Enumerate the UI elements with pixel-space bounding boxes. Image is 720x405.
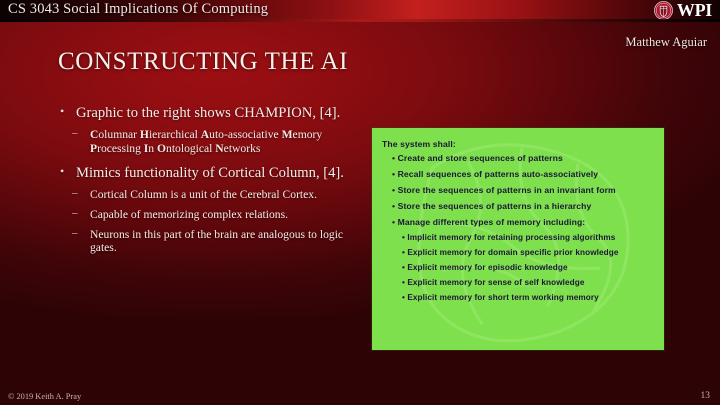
requirement-text: Explicit memory for sense of self knowle… xyxy=(407,278,584,287)
bullet-marker: – xyxy=(72,127,78,140)
wpi-logo: WPI xyxy=(654,1,712,20)
bullet-item: • Graphic to the right shows CHAMPION, [… xyxy=(58,105,358,122)
sub-bullet-item: – Capable of memorizing complex relation… xyxy=(58,208,358,222)
wpi-wordmark: WPI xyxy=(677,1,712,20)
bullet-item: • Mimics functionality of Cortical Colum… xyxy=(58,165,358,182)
requirement-text: Explicit memory for domain specific prio… xyxy=(407,248,618,257)
bullet-marker: • xyxy=(402,278,405,287)
requirement-subitem: • Explicit memory for sense of self know… xyxy=(382,278,656,287)
slide-header-bar: CS 3043 Social Implications Of Computing… xyxy=(0,0,720,22)
requirement-text: Explicit memory for episodic knowledge xyxy=(407,263,567,272)
course-title: CS 3043 Social Implications Of Computing xyxy=(8,1,268,18)
footer-copyright: © 2019 Keith A. Pray xyxy=(8,392,81,401)
requirement-item: • Create and store sequences of patterns xyxy=(382,153,656,163)
requirement-item: • Recall sequences of patterns auto-asso… xyxy=(382,169,656,179)
bullet-marker: – xyxy=(72,207,78,220)
bullet-marker: • xyxy=(402,248,405,257)
requirement-text: Create and store sequences of patterns xyxy=(398,153,563,163)
bullet-text: Capable of memorizing complex relations. xyxy=(90,208,288,221)
requirements-heading: The system shall: xyxy=(382,139,656,149)
bullet-marker: • xyxy=(60,105,64,119)
spacer xyxy=(58,155,358,165)
bullet-text: Mimics functionality of Cortical Column,… xyxy=(76,165,344,181)
requirement-item: • Store the sequences of patterns in an … xyxy=(382,185,656,195)
requirement-item: • Manage different types of memory inclu… xyxy=(382,217,656,227)
sub-bullet-item: – Neurons in this part of the brain are … xyxy=(58,228,358,255)
bullet-marker: • xyxy=(392,217,395,227)
bullet-marker: • xyxy=(402,233,405,242)
requirement-subitem: • Explicit memory for domain specific pr… xyxy=(382,248,656,257)
bullet-marker: – xyxy=(72,227,78,240)
requirement-text: Recall sequences of patterns auto-associ… xyxy=(398,169,599,179)
requirement-text: Store the sequences of patterns in an in… xyxy=(398,185,616,195)
bullet-marker: • xyxy=(402,263,405,272)
bullet-text: Cortical Column is a unit of the Cerebra… xyxy=(90,188,317,201)
bullet-marker: • xyxy=(402,293,405,302)
bullet-marker: • xyxy=(392,201,395,211)
sub-bullet-item: – Cortical Column is a unit of the Cereb… xyxy=(58,188,358,202)
bullet-list: • Graphic to the right shows CHAMPION, [… xyxy=(58,105,358,255)
bullet-marker: • xyxy=(392,153,395,163)
bullet-text: Graphic to the right shows CHAMPION, [4]… xyxy=(76,105,340,121)
bullet-text: Columnar Hierarchical Auto-associative M… xyxy=(90,128,322,155)
requirement-subitem: • Explicit memory for short term working… xyxy=(382,293,656,302)
requirements-panel: The system shall: • Create and store seq… xyxy=(372,128,664,350)
author-name: Matthew Aguiar xyxy=(625,35,707,50)
bullet-text: Neurons in this part of the brain are an… xyxy=(90,228,343,255)
bullet-marker: • xyxy=(60,165,64,179)
requirement-text: Store the sequences of patterns in a hie… xyxy=(398,201,592,211)
requirement-subitem: • Explicit memory for episodic knowledge xyxy=(382,263,656,272)
requirements-text: The system shall: • Create and store seq… xyxy=(372,128,664,302)
sub-bullet-item: – Columnar Hierarchical Auto-associative… xyxy=(58,128,358,155)
footer-page-number: 13 xyxy=(701,391,711,401)
bullet-marker: – xyxy=(72,187,78,200)
requirement-text: Explicit memory for short term working m… xyxy=(407,293,599,302)
requirement-text: Manage different types of memory includi… xyxy=(398,217,586,227)
requirement-item: • Store the sequences of patterns in a h… xyxy=(382,201,656,211)
bullet-marker: • xyxy=(392,185,395,195)
slide-title: CONSTRUCTING THE AI xyxy=(58,48,348,76)
wpi-seal-icon xyxy=(654,1,673,20)
presentation-slide: CS 3043 Social Implications Of Computing… xyxy=(0,0,720,405)
requirement-subitem: • Implicit memory for retaining processi… xyxy=(382,233,656,242)
requirement-text: Implicit memory for retaining processing… xyxy=(407,233,615,242)
bullet-marker: • xyxy=(392,169,395,179)
